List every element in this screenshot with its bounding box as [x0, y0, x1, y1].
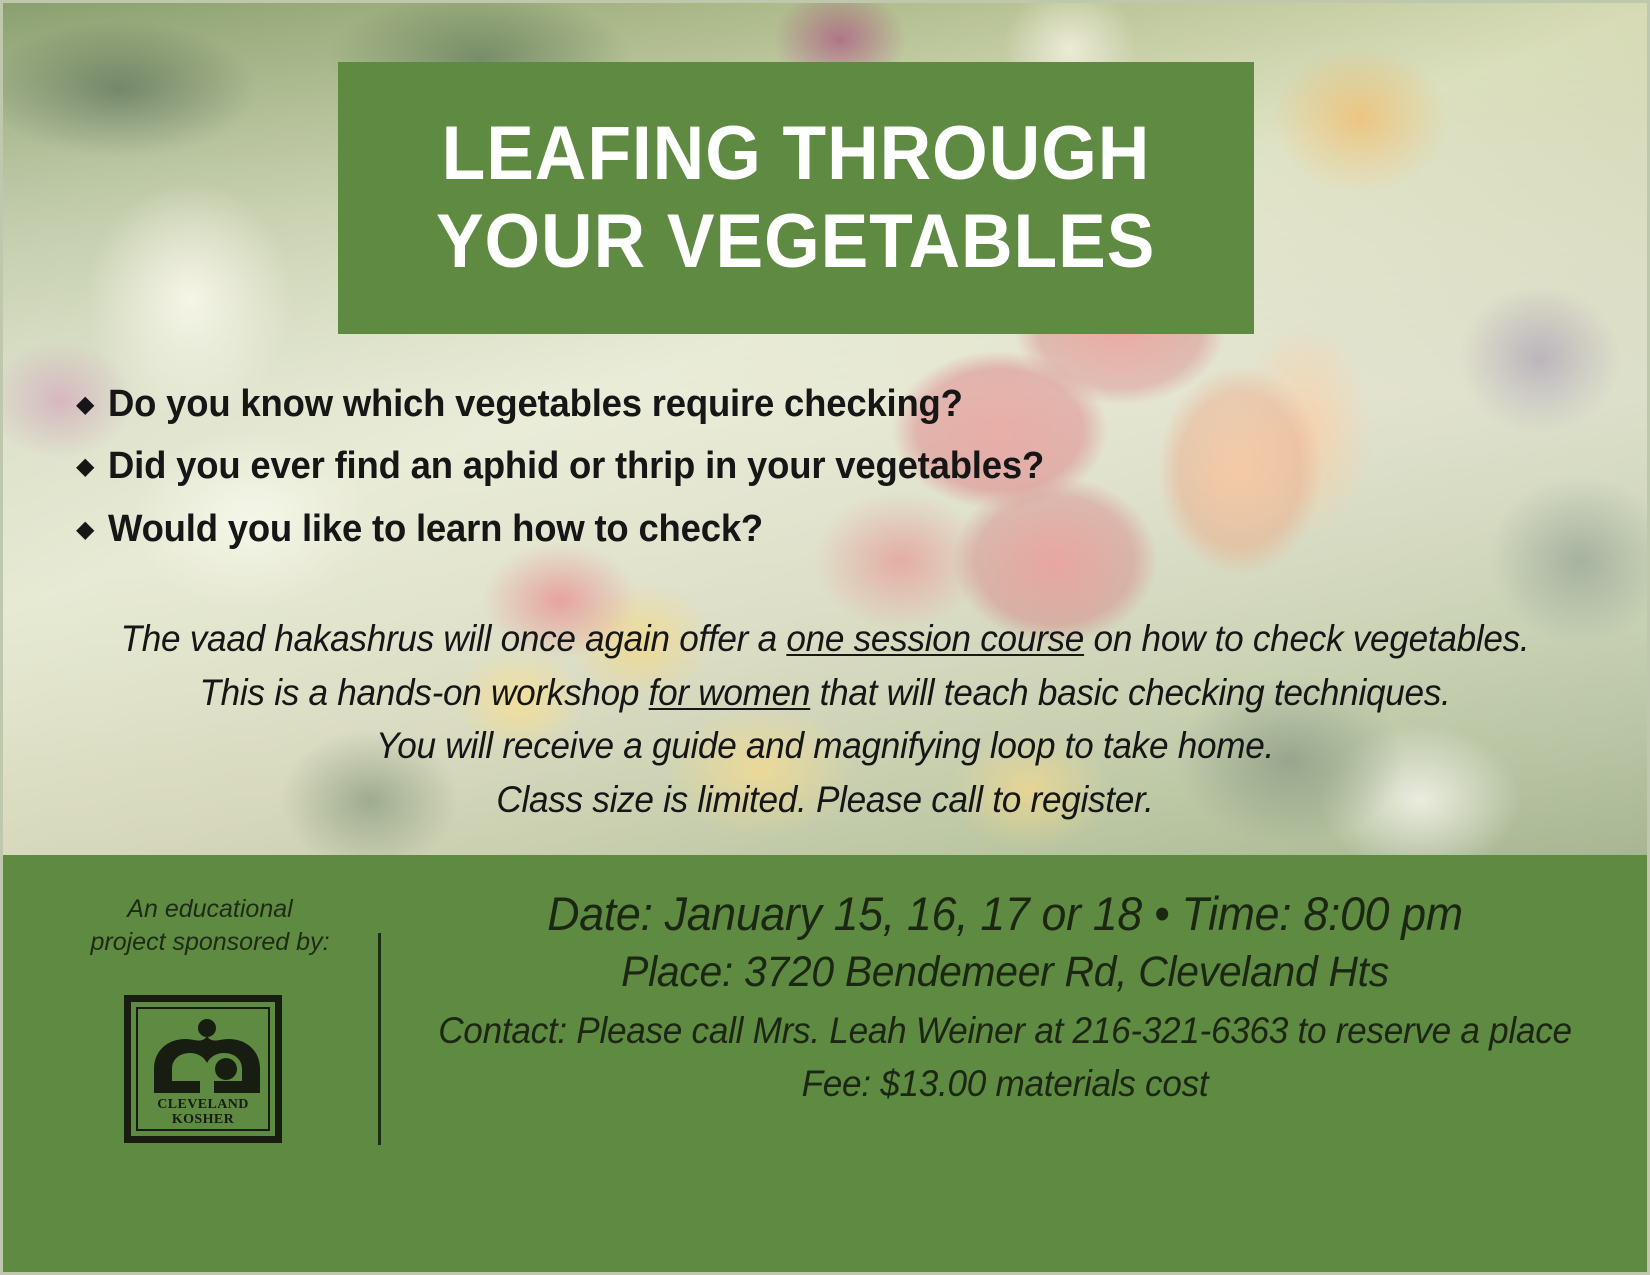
description-line-1: The vaad hakashrus will once again offer… — [79, 612, 1571, 666]
underlined-for-women: for women — [649, 672, 811, 713]
event-date-time-line: Date: January 15, 16, 17 or 18 • Time: 8… — [430, 883, 1580, 944]
logo-word-cleveland: CLEVELAND — [138, 1098, 268, 1112]
crown-ck-icon — [150, 1019, 264, 1097]
diamond-bullet-icon: ◆ — [76, 518, 94, 542]
logo-inner-frame: CLEVELAND KOSHER — [136, 1007, 270, 1131]
event-contact-line: Contact: Please call Mrs. Leah Weiner at… — [430, 1002, 1580, 1060]
bullet-text-2: Did you ever find an aphid or thrip in y… — [108, 445, 1044, 488]
bullet-text-1: Do you know which vegetables require che… — [108, 383, 963, 426]
flyer-poster: LEAFING THROUGH YOUR VEGETABLES ◆ Do you… — [0, 0, 1650, 1275]
cleveland-kosher-logo: CLEVELAND KOSHER — [124, 995, 282, 1143]
vertical-divider — [378, 933, 381, 1145]
event-place-line: Place: 3720 Bendemeer Rd, Cleveland Hts — [430, 944, 1580, 1002]
question-bullet-list: ◆ Do you know which vegetables require c… — [76, 383, 1376, 570]
list-item: ◆ Would you like to learn how to check? — [76, 508, 1376, 551]
sponsor-label-line-2: project sponsored by: — [60, 926, 360, 959]
description-line-1-post: on how to check vegetables. — [1084, 618, 1529, 659]
event-fee-line: Fee: $13.00 materials cost — [430, 1059, 1580, 1109]
footer-panel: An educational project sponsored by: CLE… — [0, 855, 1650, 1275]
logo-wordmark: CLEVELAND KOSHER — [138, 1098, 268, 1127]
underlined-one-session-course: one session course — [786, 618, 1084, 659]
description-line-1-pre: The vaad hakashrus will once again offer… — [121, 618, 787, 659]
diamond-bullet-icon: ◆ — [76, 455, 94, 479]
title-line-2: YOUR VEGETABLES — [436, 198, 1155, 286]
title-line-1: LEAFING THROUGH — [442, 110, 1151, 198]
description-line-2-pre: This is a hands-on workshop — [199, 672, 648, 713]
description-line-2: This is a hands-on workshop for women th… — [79, 666, 1571, 720]
list-item: ◆ Did you ever find an aphid or thrip in… — [76, 445, 1376, 488]
description-line-3: You will receive a guide and magnifying … — [79, 719, 1571, 773]
title-banner: LEAFING THROUGH YOUR VEGETABLES — [338, 62, 1254, 334]
description-paragraph: The vaad hakashrus will once again offer… — [40, 612, 1610, 827]
sponsor-label-line-1: An educational — [60, 893, 360, 926]
description-line-2-post: that will teach basic checking technique… — [810, 672, 1450, 713]
bullet-text-3: Would you like to learn how to check? — [108, 508, 763, 551]
logo-word-kosher: KOSHER — [138, 1113, 268, 1127]
sponsor-block: An educational project sponsored by: — [60, 893, 360, 958]
event-details-block: Date: January 15, 16, 17 or 18 • Time: 8… — [400, 883, 1610, 1109]
list-item: ◆ Do you know which vegetables require c… — [76, 383, 1376, 426]
description-line-4: Class size is limited. Please call to re… — [79, 773, 1571, 827]
diamond-bullet-icon: ◆ — [76, 393, 94, 417]
